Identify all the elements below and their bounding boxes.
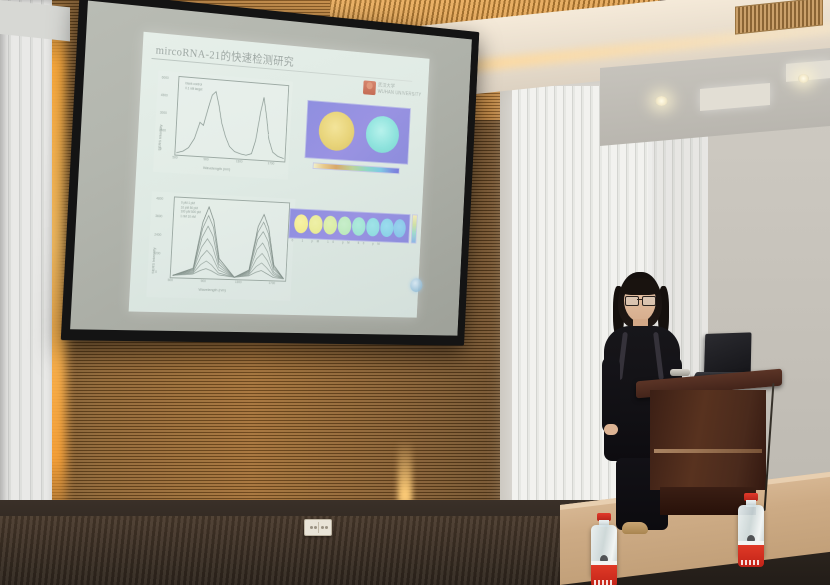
chart-top-left: SERS Intensity blank control 0.1 nM targ… [153, 70, 293, 179]
b-ytick-3: 3600 [155, 214, 162, 218]
xtick-3: 1700 [268, 161, 275, 165]
chart-top-left-legend: blank control 0.1 nM target [185, 81, 203, 91]
series-spot-4 [352, 217, 366, 236]
conference-room-photo: mircoRNA-21的快速检测研究 武汉大学 WUHAN UNIVERSITY… [0, 0, 830, 585]
series-xtick-1: 1 pM [301, 239, 322, 244]
hand-left [604, 424, 618, 435]
downlight-2 [798, 74, 809, 83]
series-spot-1 [308, 215, 323, 234]
ytick-3: 4500 [161, 93, 168, 97]
shoe [622, 522, 648, 534]
chart-bottom-left-legend: 0 pM 1 pM 10 pM 50 pM 100 pM 500 pM 1 nM… [180, 201, 201, 220]
blinds-left-headrail [0, 0, 70, 41]
series-xtick-3: 50 pM [358, 241, 384, 246]
series-spot-6 [380, 218, 394, 237]
b-ytick-2: 2400 [154, 233, 161, 237]
blue-round-icon[interactable] [410, 278, 423, 292]
b-ytick-1: 1200 [153, 251, 160, 255]
colorbar-gradient-series [411, 214, 418, 243]
downlight-1 [655, 96, 668, 106]
spot-negative [365, 115, 400, 154]
chart-bottom-left: SERS Intensity 0 pM 1 [146, 191, 295, 300]
colorbar-two-spots [313, 162, 400, 174]
podium-trim [654, 449, 762, 453]
bottle-body-left [591, 525, 617, 577]
b-xtick-3: 1700 [268, 281, 275, 285]
window-blinds-left[interactable] [0, 0, 52, 585]
presentation-slide: mircoRNA-21的快速检测研究 武汉大学 WUHAN UNIVERSITY… [129, 32, 430, 318]
screen-surface: mircoRNA-21的快速检测研究 武汉大学 WUHAN UNIVERSITY… [70, 1, 472, 336]
series-xtick-2: 10 pM [327, 240, 353, 245]
b-xtick-0: 500 [168, 278, 173, 282]
series-xtick-0: 0 [292, 238, 298, 242]
wall-socket[interactable] [304, 519, 332, 536]
logo-text: 武汉大学 WUHAN UNIVERSITY [378, 83, 422, 98]
b-xtick-1: 900 [201, 279, 206, 283]
xtick-1: 900 [203, 157, 208, 161]
xtick-0: 500 [172, 155, 177, 159]
presentation-clicker[interactable] [670, 369, 690, 376]
podium [636, 375, 782, 515]
chart-bottom-left-xlabel: Wavelength (nm) [198, 287, 226, 293]
ytick-4: 6000 [162, 76, 169, 80]
b-ytick-0: 0 [155, 270, 157, 274]
b-ytick-4: 4800 [156, 197, 163, 201]
bottle-body-right [738, 505, 764, 557]
eyeglasses-icon [625, 296, 655, 304]
chart-top-left-xlabel: Wavelength (nm) [203, 165, 231, 171]
bottle-label-text-right [741, 560, 761, 565]
xtick-2: 1300 [236, 159, 243, 163]
ytick-0: 0 [160, 147, 162, 151]
series-spot-3 [337, 216, 351, 235]
series-spot-2 [323, 215, 338, 234]
series-spot-7 [393, 219, 406, 238]
series-spot-5 [366, 218, 380, 237]
projection-screen: mircoRNA-21的快速检测研究 武汉大学 WUHAN UNIVERSITY… [60, 0, 487, 355]
university-logo: 武汉大学 WUHAN UNIVERSITY [363, 80, 422, 99]
series-spot-0 [294, 214, 309, 233]
crest-icon [363, 80, 376, 95]
b-xtick-2: 1300 [235, 280, 242, 284]
arm-left [602, 356, 620, 434]
ytick-1: 1500 [159, 128, 166, 132]
podium-body [650, 390, 766, 490]
carpet-floor-left [0, 516, 560, 585]
bottle-label-text-left [594, 580, 614, 585]
image-panel-two-spots [305, 100, 411, 165]
spot-positive [318, 110, 355, 152]
ytick-2: 3000 [160, 111, 167, 115]
